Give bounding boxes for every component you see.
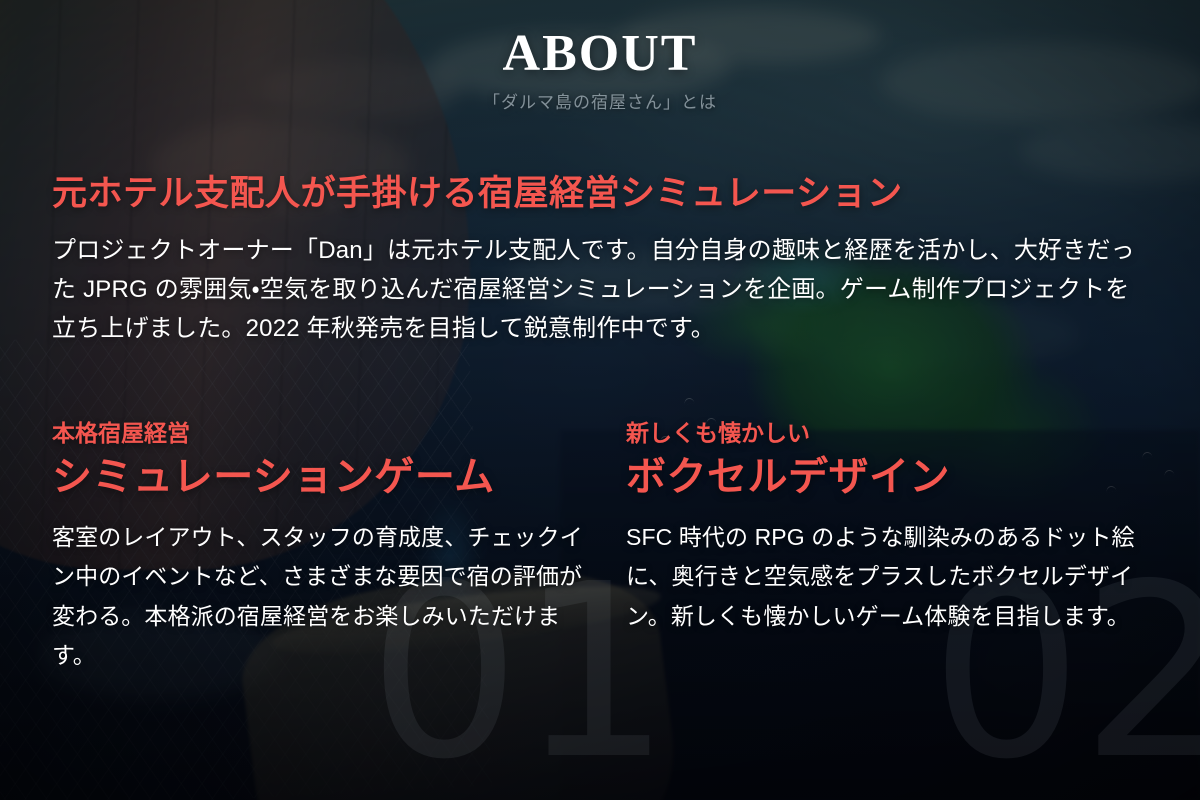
feature-title-02: ボクセルデザイン — [626, 452, 1160, 502]
lead-heading: 元ホテル支配人が手掛ける宿屋経営シミュレーション — [52, 172, 1152, 216]
feature-body-02: SFC 時代の RPG のような馴染みのあるドット絵に、奥行きと空気感をプラスし… — [626, 518, 1160, 637]
page-subtitle: 「ダルマ島の宿屋さん」とは — [0, 88, 1200, 113]
lead-block: 元ホテル支配人が手掛ける宿屋経営シミュレーション プロジェクトオーナー「Dan」… — [52, 172, 1152, 348]
feature-eyebrow-02: 新しくも懐かしい — [626, 420, 1160, 448]
feature-card-01: 本格宿屋経営 シミュレーションゲーム 客室のレイアウト、スタッフの育成度、チェッ… — [52, 420, 586, 676]
feature-card-02: 新しくも懐かしい ボクセルデザイン SFC 時代の RPG のような馴染みのある… — [626, 420, 1160, 676]
feature-body-01: 客室のレイアウト、スタッフの育成度、チェックイン中のイベントなど、さまざまな要因… — [52, 518, 586, 676]
page-title: ABOUT — [0, 28, 1200, 80]
feature-eyebrow-01: 本格宿屋経営 — [52, 420, 586, 448]
about-content: ABOUT 「ダルマ島の宿屋さん」とは 元ホテル支配人が手掛ける宿屋経営シミュレ… — [0, 0, 1200, 800]
feature-title-01: シミュレーションゲーム — [52, 452, 586, 502]
feature-columns: 本格宿屋経営 シミュレーションゲーム 客室のレイアウト、スタッフの育成度、チェッ… — [52, 420, 1160, 676]
section-header: ABOUT 「ダルマ島の宿屋さん」とは — [0, 28, 1200, 113]
lead-paragraph: プロジェクトオーナー「Dan」は元ホテル支配人です。自分自身の趣味と経歴を活かし… — [52, 232, 1152, 349]
about-section: 01 02 ABOUT 「ダルマ島の宿屋さん」とは 元ホテル支配人が手掛ける宿屋… — [0, 0, 1200, 800]
